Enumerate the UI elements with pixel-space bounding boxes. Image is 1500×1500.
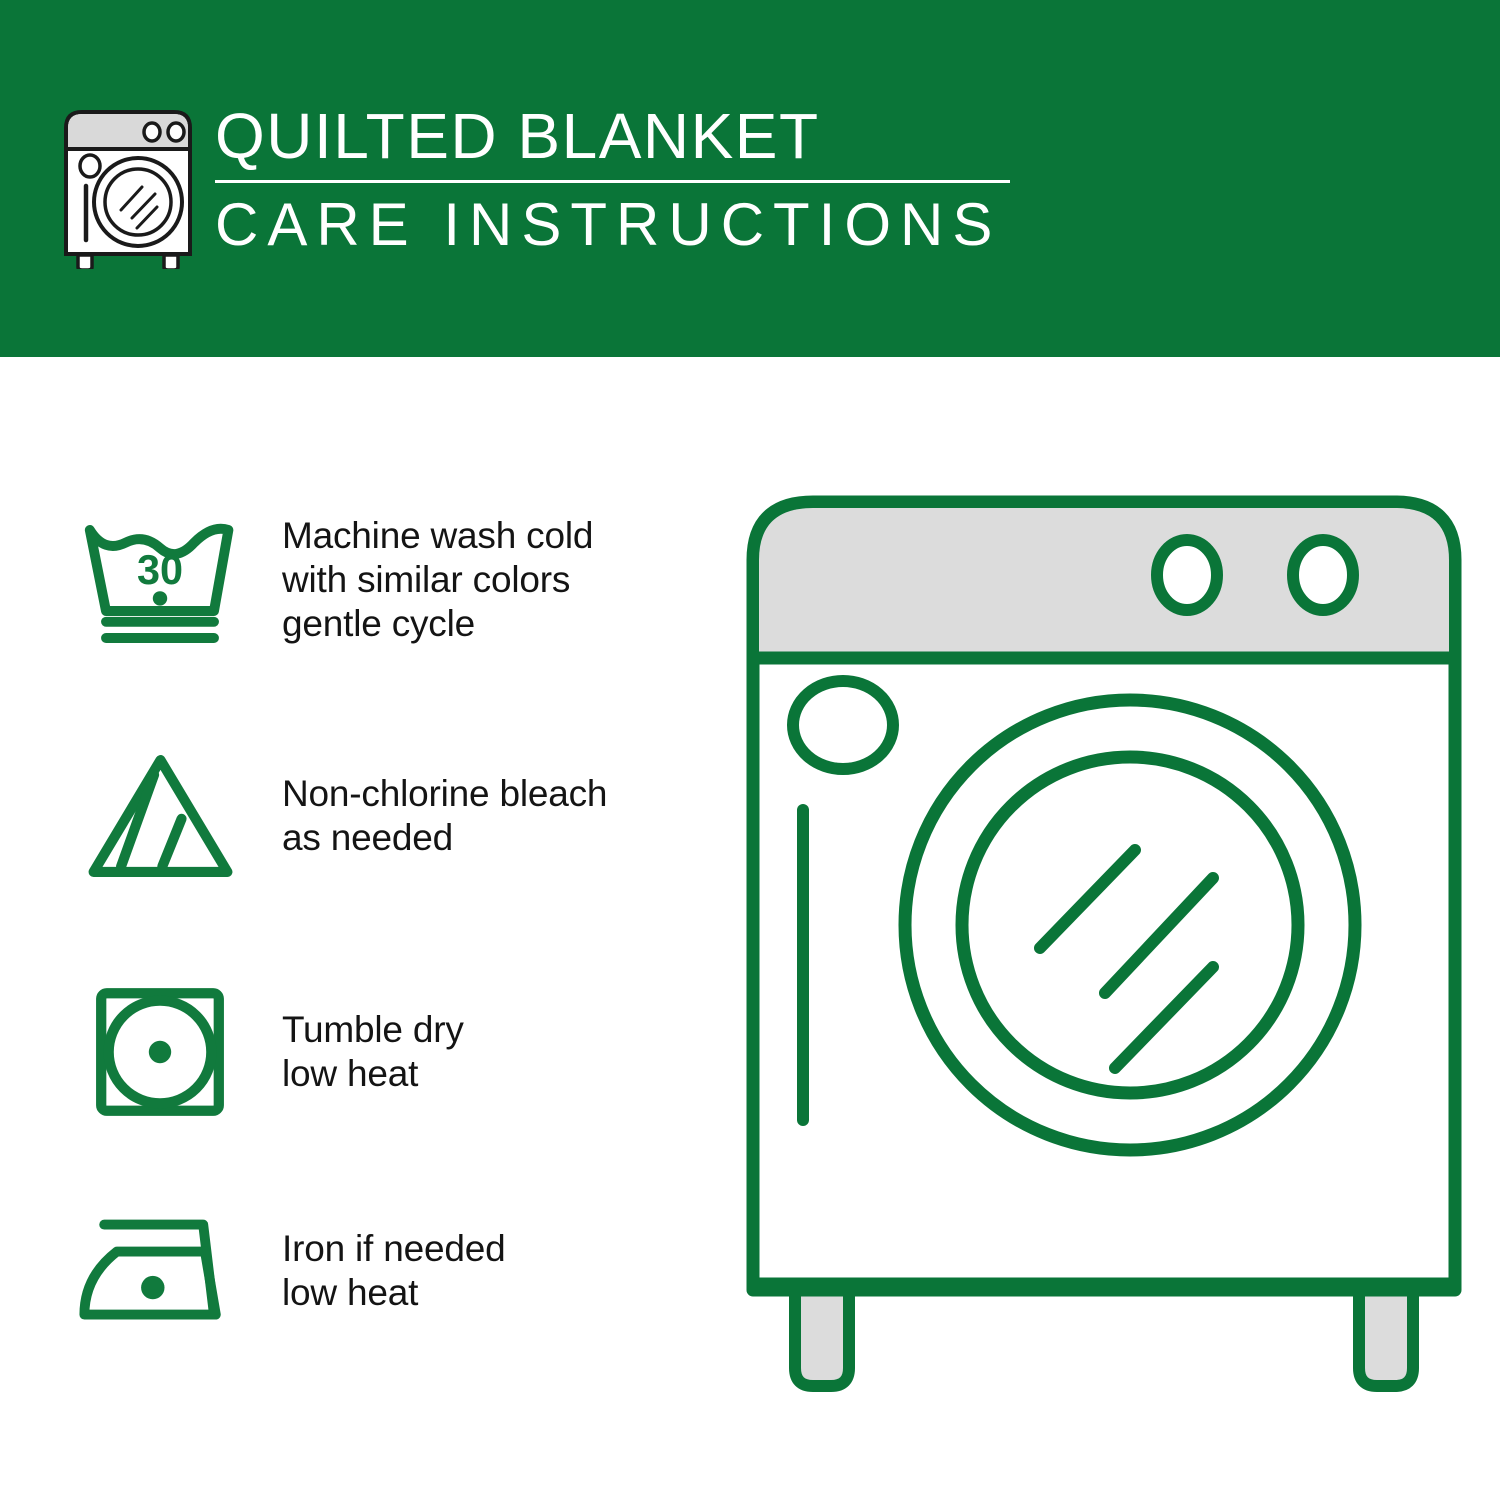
page-title: QUILTED BLANKET <box>215 100 1015 172</box>
care-instruction-list: 30 Machine wash cold with similar colors… <box>0 357 740 1500</box>
non-chlorine-bleach-triangle-icon <box>60 747 260 885</box>
care-text-line: Iron if needed <box>282 1227 740 1271</box>
washing-machine-icon <box>60 104 196 269</box>
washer-knob <box>1293 540 1353 610</box>
care-item-iron: Iron if needed low heat <box>0 1212 740 1329</box>
care-item-text: Iron if needed low heat <box>282 1227 740 1315</box>
care-item-bleach: Non-chlorine bleach as needed <box>0 747 740 885</box>
care-text-line: Non-chlorine bleach <box>282 772 740 816</box>
care-text-line: low heat <box>282 1052 740 1096</box>
tumble-dry-low-icon <box>60 982 260 1122</box>
care-text-line: with similar colors <box>282 558 740 602</box>
care-text-line: Tumble dry <box>282 1008 740 1052</box>
care-text-line: Machine wash cold <box>282 514 740 558</box>
care-item-text: Non-chlorine bleach as needed <box>282 772 740 860</box>
detergent-dispenser-icon <box>793 681 893 769</box>
care-item-machine-wash: 30 Machine wash cold with similar colors… <box>0 512 740 647</box>
wash-tub-30-gentle-icon: 30 <box>60 512 260 647</box>
wash-temperature-label: 30 <box>137 547 183 593</box>
header-divider <box>215 180 1010 183</box>
care-text-line: low heat <box>282 1271 740 1315</box>
care-item-text: Machine wash cold with similar colors ge… <box>282 514 740 646</box>
care-instructions-infographic: QUILTED BLANKET CARE INSTRUCTIONS <box>0 0 1500 1500</box>
washer-door-inner-ring <box>962 757 1298 1093</box>
header-band: QUILTED BLANKET CARE INSTRUCTIONS <box>0 0 1500 357</box>
care-item-tumble-dry: Tumble dry low heat <box>0 982 740 1122</box>
care-text-line: as needed <box>282 816 740 860</box>
care-text-line: gentle cycle <box>282 602 740 646</box>
front-load-washing-machine-illustration <box>735 480 1480 1440</box>
header-text-block: QUILTED BLANKET CARE INSTRUCTIONS <box>215 100 1015 261</box>
washer-knob <box>1157 540 1217 610</box>
iron-low-heat-icon <box>60 1212 260 1329</box>
page-subtitle: CARE INSTRUCTIONS <box>215 189 1015 261</box>
care-item-text: Tumble dry low heat <box>282 1008 740 1096</box>
